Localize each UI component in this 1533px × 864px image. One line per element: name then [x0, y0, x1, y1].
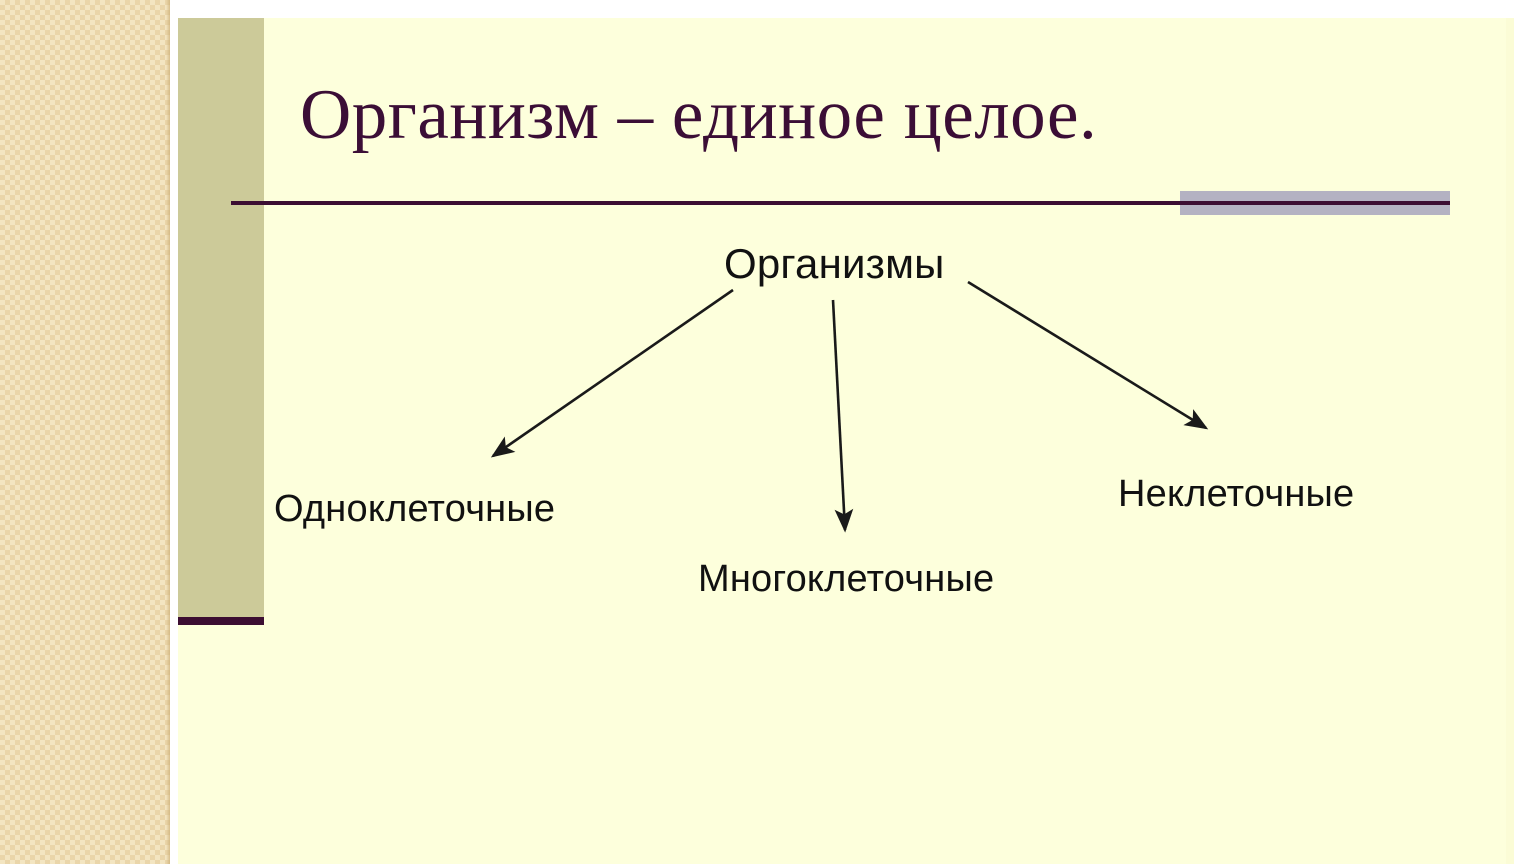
background-texture-strip [0, 0, 170, 864]
organism-classification-diagram: Организмы Одноклеточные Многоклеточные Н… [178, 18, 1512, 864]
diagram-node-multicellular: Многоклеточные [698, 558, 994, 601]
slide-stage: Организм – единое целое. Организмы Однок… [0, 0, 1533, 864]
diagram-node-noncellular: Неклеточные [1118, 473, 1354, 516]
arrow-to-multicellular [833, 300, 845, 530]
arrow-to-unicellular [493, 290, 733, 456]
diagram-arrows-layer [178, 18, 1512, 864]
arrow-to-noncellular [968, 282, 1206, 428]
diagram-node-organisms: Организмы [724, 240, 945, 288]
diagram-node-unicellular: Одноклеточные [274, 488, 555, 531]
